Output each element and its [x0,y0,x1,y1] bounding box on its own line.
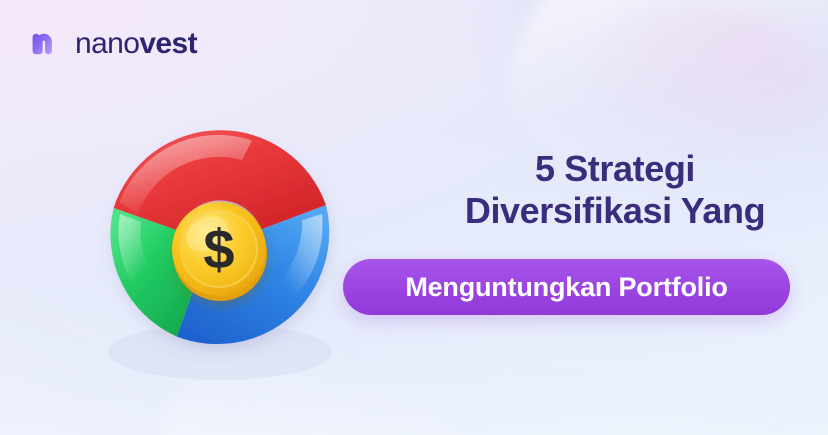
highlight-badge[interactable]: Menguntungkan Portfolio [343,259,790,315]
page-title: 5 Strategi Diversifikasi Yang [415,148,815,233]
headline-line-1: 5 Strategi [415,148,815,190]
nanovest-logo[interactable]: nanovest [24,24,197,64]
promo-banner: nanovest [0,0,828,435]
background-glow-top-right [572,4,822,164]
highlight-badge-label: Menguntungkan Portfolio [405,274,727,301]
donut-chart-illustration: $ [72,98,362,388]
brand-name-light: nano [75,27,139,60]
brand-name-bold: vest [139,27,197,60]
headline-line-2: Diversifikasi Yang [415,190,815,232]
brand-wordmark: nanovest [75,29,197,59]
dollar-coin-icon: $ [172,202,267,301]
nanovest-n-mark-icon [24,24,64,64]
coin-dollar-symbol: $ [203,218,234,281]
